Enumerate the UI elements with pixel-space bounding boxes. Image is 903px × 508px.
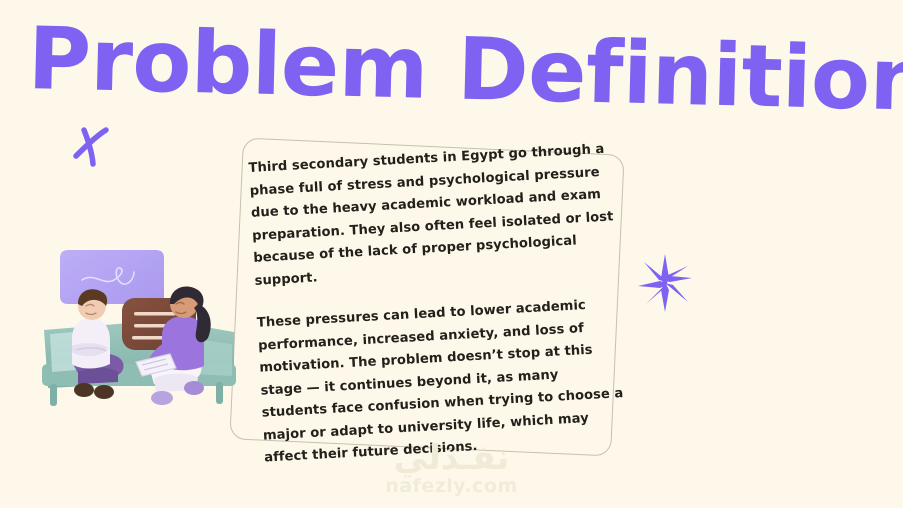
slide-canvas: Problem Definition Third secondary stude…: [0, 0, 903, 508]
paragraph-1: Third secondary students in Egypt go thr…: [248, 138, 623, 293]
page-title: Problem Definition: [27, 14, 879, 125]
counseling-session-illustration: [38, 246, 242, 418]
sparkle-star-icon: [636, 252, 694, 314]
watermark-latin: nafezly.com: [0, 475, 903, 498]
cross-mark-icon: [62, 118, 118, 174]
problem-description-text: Third secondary students in Egypt go thr…: [248, 138, 632, 470]
paragraph-2: These pressures can lead to lower academ…: [256, 293, 632, 470]
